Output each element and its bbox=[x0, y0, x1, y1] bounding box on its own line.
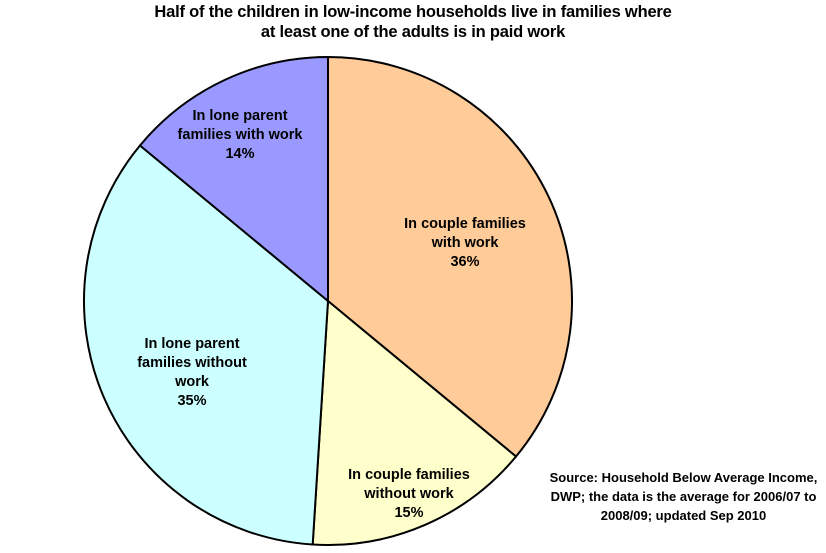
pie-chart-figure: Half of the children in low-income house… bbox=[0, 0, 826, 553]
source-note: Source: Household Below Average Income, … bbox=[541, 468, 826, 525]
pie-slice-group bbox=[84, 57, 572, 545]
